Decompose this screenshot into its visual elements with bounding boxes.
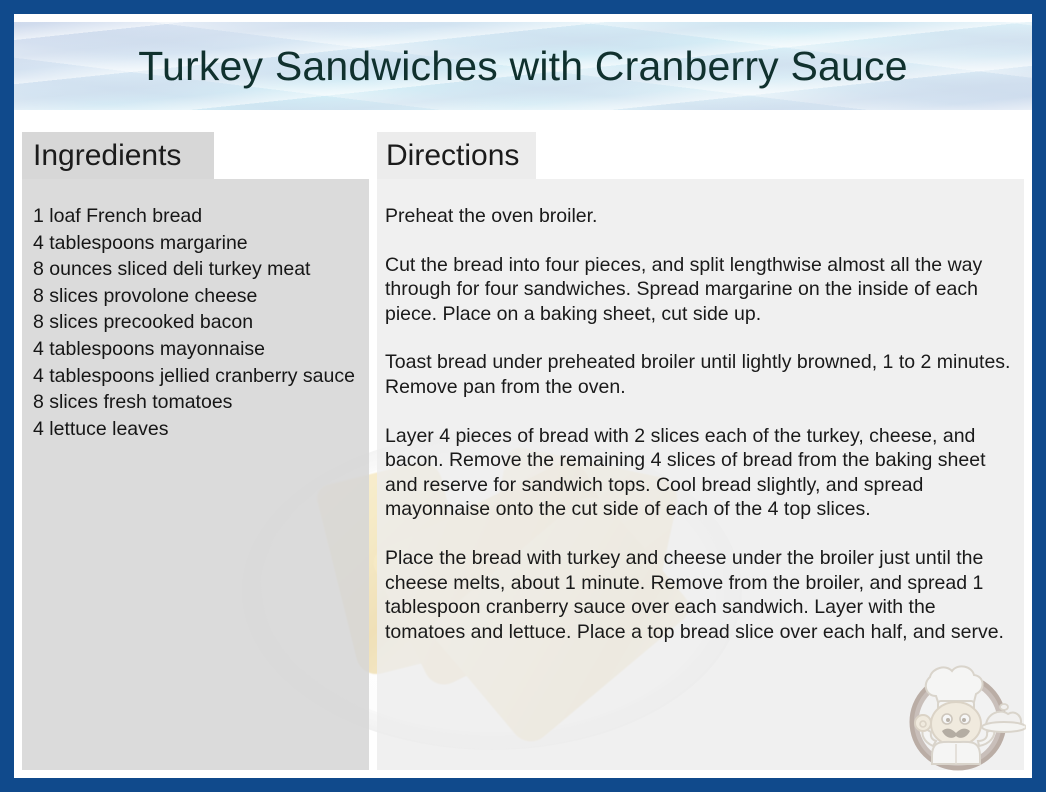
direction-step: Cut the bread into four pieces, and spli… xyxy=(385,253,1012,327)
ingredient-item: 4 lettuce leaves xyxy=(33,416,357,443)
ingredient-item: 4 tablespoons margarine xyxy=(33,230,357,257)
ingredient-item: 4 tablespoons mayonnaise xyxy=(33,336,357,363)
ingredient-item: 1 loaf French bread xyxy=(33,203,357,230)
directions-tab: Directions xyxy=(377,132,536,179)
direction-step: Preheat the oven broiler. xyxy=(385,204,1012,229)
recipe-card: Turkey Sandwiches with Cranberry Sauce I… xyxy=(0,0,1046,792)
ingredient-item: 8 ounces sliced deli turkey meat xyxy=(33,256,357,283)
chef-mascot-logo xyxy=(900,660,1026,772)
directions-steps: Preheat the oven broiler.Cut the bread i… xyxy=(377,179,1024,644)
ingredients-heading: Ingredients xyxy=(22,141,181,171)
directions-heading: Directions xyxy=(377,141,519,171)
page-title: Turkey Sandwiches with Cranberry Sauce xyxy=(138,46,907,87)
direction-step: Layer 4 pieces of bread with 2 slices ea… xyxy=(385,424,1012,522)
title-banner: Turkey Sandwiches with Cranberry Sauce xyxy=(14,22,1032,110)
ingredient-item: 8 slices precooked bacon xyxy=(33,309,357,336)
ingredient-item: 8 slices provolone cheese xyxy=(33,283,357,310)
ingredient-item: 8 slices fresh tomatoes xyxy=(33,389,357,416)
ingredient-item: 4 tablespoons jellied cranberry sauce xyxy=(33,363,357,390)
ingredients-tab: Ingredients xyxy=(22,132,214,179)
direction-step: Place the bread with turkey and cheese u… xyxy=(385,546,1012,644)
ingredients-panel: 1 loaf French bread4 tablespoons margari… xyxy=(22,179,369,770)
ingredients-list: 1 loaf French bread4 tablespoons margari… xyxy=(22,179,369,442)
direction-step: Toast bread under preheated broiler unti… xyxy=(385,350,1012,399)
card-inner: Turkey Sandwiches with Cranberry Sauce I… xyxy=(14,14,1032,778)
